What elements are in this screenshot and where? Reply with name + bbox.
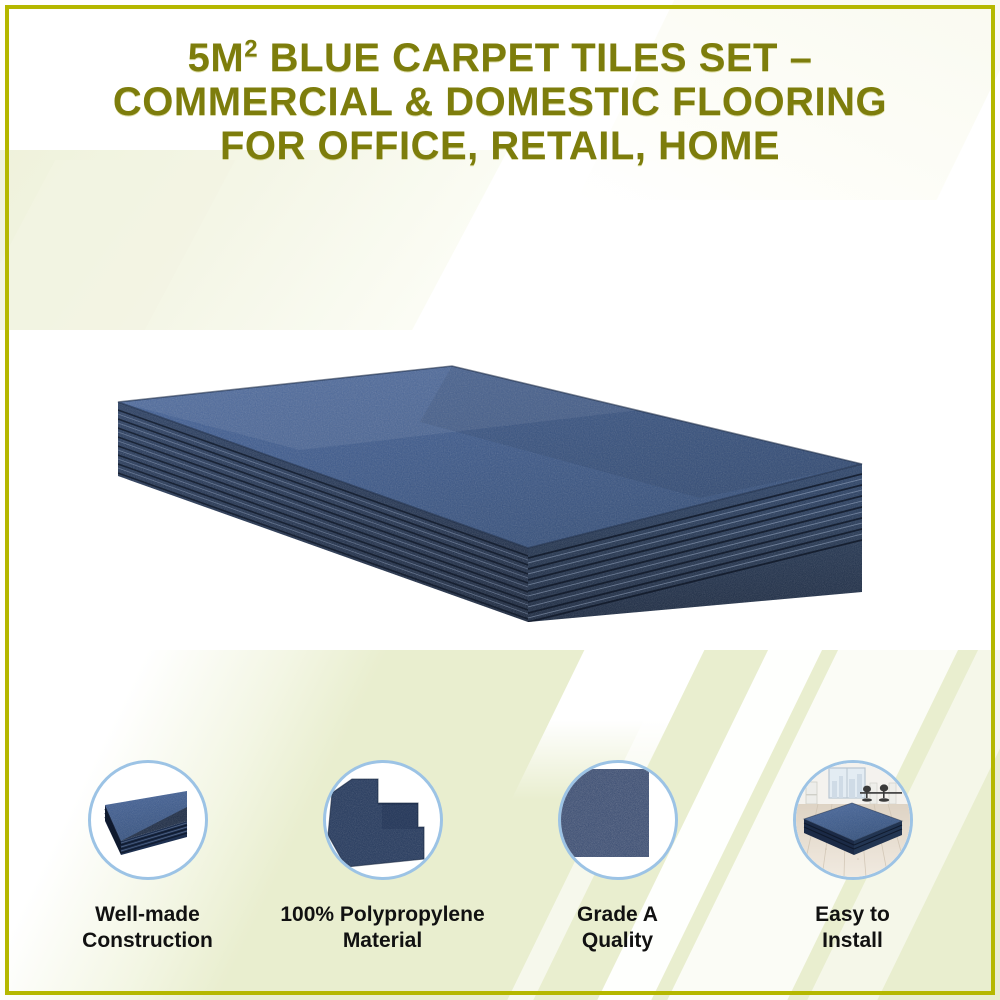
feature-label: Well-made Construction bbox=[82, 902, 213, 954]
feature-icon-circle bbox=[793, 760, 913, 880]
page-title: 5M2 BLUE CARPET TILES SET – COMMERCIAL &… bbox=[0, 36, 1000, 168]
feature-label: Easy to Install bbox=[815, 902, 890, 954]
feature-item: Grade A Quality bbox=[500, 760, 735, 970]
feature-item: Easy to Install bbox=[735, 760, 970, 970]
title-prefix: 5M bbox=[188, 36, 245, 80]
feature-item: Well-made Construction bbox=[30, 760, 265, 970]
title-line-2: COMMERCIAL & DOMESTIC FLOORING bbox=[0, 80, 1000, 124]
carpet-texture-square-icon bbox=[561, 763, 675, 877]
room-install-scene-icon bbox=[796, 763, 910, 877]
feature-row: Well-made Construction bbox=[30, 760, 970, 970]
feature-label: 100% Polypropylene Material bbox=[280, 902, 484, 954]
product-infographic: 5M2 BLUE CARPET TILES SET – COMMERCIAL &… bbox=[0, 0, 1000, 1000]
feature-label: Grade A Quality bbox=[577, 902, 658, 954]
feature-icon-circle bbox=[88, 760, 208, 880]
title-line-3: FOR OFFICE, RETAIL, HOME bbox=[0, 124, 1000, 168]
title-suffix: BLUE CARPET TILES SET – bbox=[258, 36, 812, 80]
feature-icon-circle bbox=[323, 760, 443, 880]
hero-product-image bbox=[0, 330, 1000, 650]
carpet-material-swatch-icon bbox=[326, 763, 440, 877]
feature-item: 100% Polypropylene Material bbox=[265, 760, 500, 970]
feature-icon-circle bbox=[558, 760, 678, 880]
tile-stack-edge-icon bbox=[91, 763, 205, 877]
title-line-1: 5M2 BLUE CARPET TILES SET – bbox=[0, 36, 1000, 80]
title-superscript: 2 bbox=[244, 36, 258, 63]
